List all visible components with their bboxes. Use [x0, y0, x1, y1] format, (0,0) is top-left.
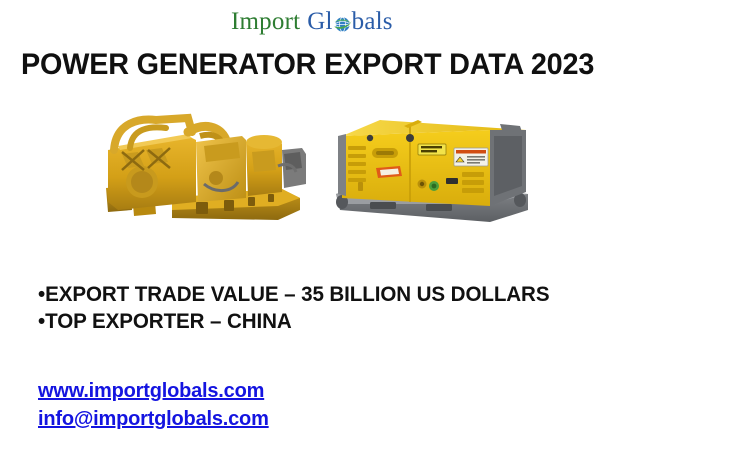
- logo-text-import: Import: [231, 8, 300, 36]
- logo-text-gl: Gl: [307, 8, 332, 36]
- email-link[interactable]: info@importglobals.com: [38, 405, 269, 433]
- bullet-item-export-value: •EXPORT TRADE VALUE – 35 BILLION US DOLL…: [38, 281, 646, 308]
- bullet-text: TOP EXPORTER – CHINA: [45, 310, 292, 333]
- contact-links: www.importglobals.com info@importglobals…: [38, 377, 269, 433]
- page-title: POWER GENERATOR EXPORT DATA 2023: [21, 48, 594, 82]
- globe-icon: [333, 15, 352, 34]
- enclosed-diesel-generator-image: [322, 90, 544, 236]
- bullet-list: •EXPORT TRADE VALUE – 35 BILLION US DOLL…: [38, 281, 658, 335]
- website-link[interactable]: www.importglobals.com: [38, 377, 269, 405]
- bullet-item-top-exporter: •TOP EXPORTER – CHINA: [38, 308, 646, 335]
- bullet-text: EXPORT TRADE VALUE – 35 BILLION US DOLLA…: [45, 283, 549, 306]
- open-frame-power-generator-image: [92, 106, 308, 232]
- logo-text-bals: bals: [352, 8, 393, 36]
- brand-logo[interactable]: Import Gl bals: [231, 6, 421, 38]
